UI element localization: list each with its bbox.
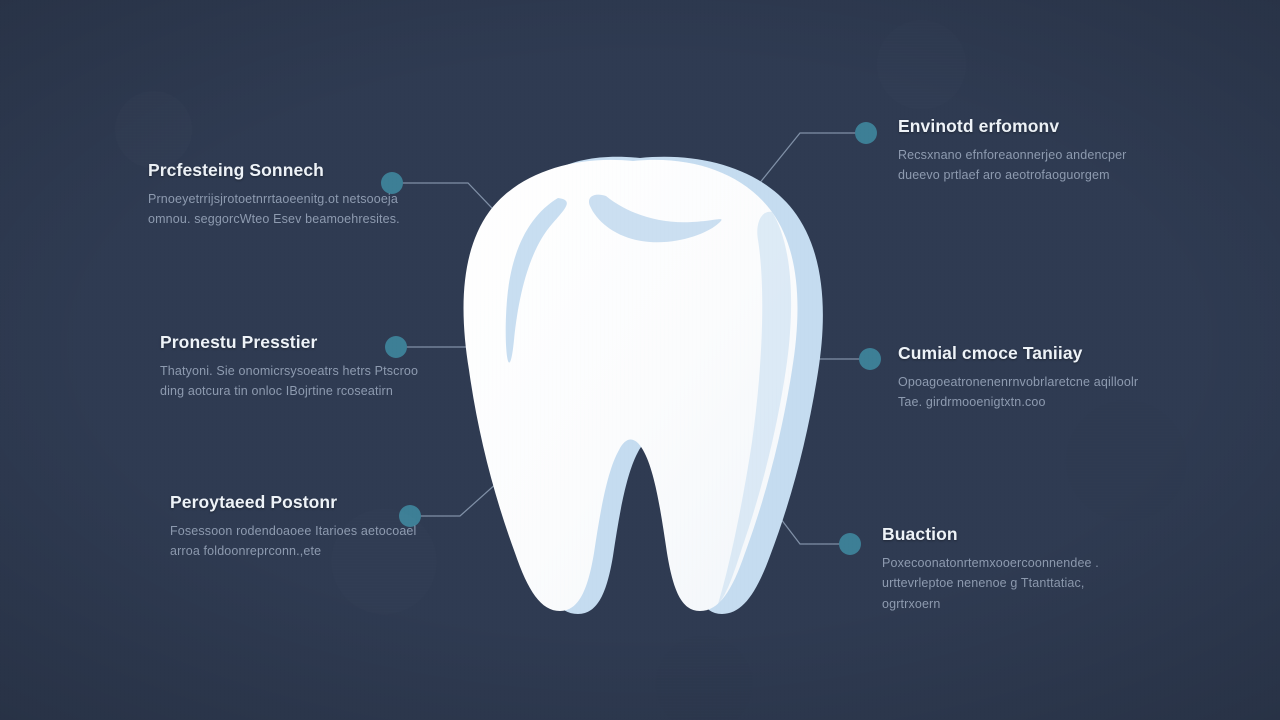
callout-title: Buaction — [882, 524, 1142, 544]
callout-title: Peroytaeed Postonr — [170, 492, 430, 512]
callout-dot-bite-action[interactable] — [839, 533, 861, 555]
callout-dot-crown-canal[interactable] — [859, 348, 881, 370]
callout-enamel-reinforcement: Envinotd erfomonv Recsxnano efnforeaonne… — [898, 116, 1158, 186]
callout-body: Opoagoeatronenenrnvobrlaretcne aqilloolr… — [898, 372, 1158, 413]
callout-title: Pronestu Presstier — [160, 332, 420, 352]
callout-title: Cumial cmoce Taniiay — [898, 343, 1158, 363]
callout-body: Recsxnano efnforeaonnerjeo andencper due… — [898, 145, 1158, 186]
callout-dot-enamel-reinforcement[interactable] — [855, 122, 877, 144]
callout-enamel-protection: Prcfesteing Sonnech Prnoeyetrrijsjrotoet… — [148, 160, 408, 230]
callout-periodontal-position: Peroytaeed Postonr Fosessoon rodendoaoee… — [170, 492, 430, 562]
infographic-canvas: Prcfesteing Sonnech Prnoeyetrrijsjrotoet… — [0, 0, 1280, 720]
callout-bite-action: Buaction Poxecoonatonrtemxooercoonnendee… — [882, 524, 1142, 614]
callout-body: Thatyoni. Sie onomicrsysoeatrs hetrs Pts… — [160, 361, 420, 402]
callout-pulp-pressure: Pronestu Presstier Thatyoni. Sie onomicr… — [160, 332, 420, 402]
callout-body: Prnoeyetrrijsjrotoetnrrtaoeenitg.ot nets… — [148, 189, 408, 230]
callout-crown-canal: Cumial cmoce Taniiay Opoagoeatronenenrnv… — [898, 343, 1158, 413]
callout-body: Fosessoon rodendoaoee Itarioes aetocoael… — [170, 521, 430, 562]
callout-body: Poxecoonatonrtemxooercoonnendee . urttev… — [882, 553, 1142, 614]
callout-title: Envinotd erfomonv — [898, 116, 1158, 136]
callout-title: Prcfesteing Sonnech — [148, 160, 408, 180]
